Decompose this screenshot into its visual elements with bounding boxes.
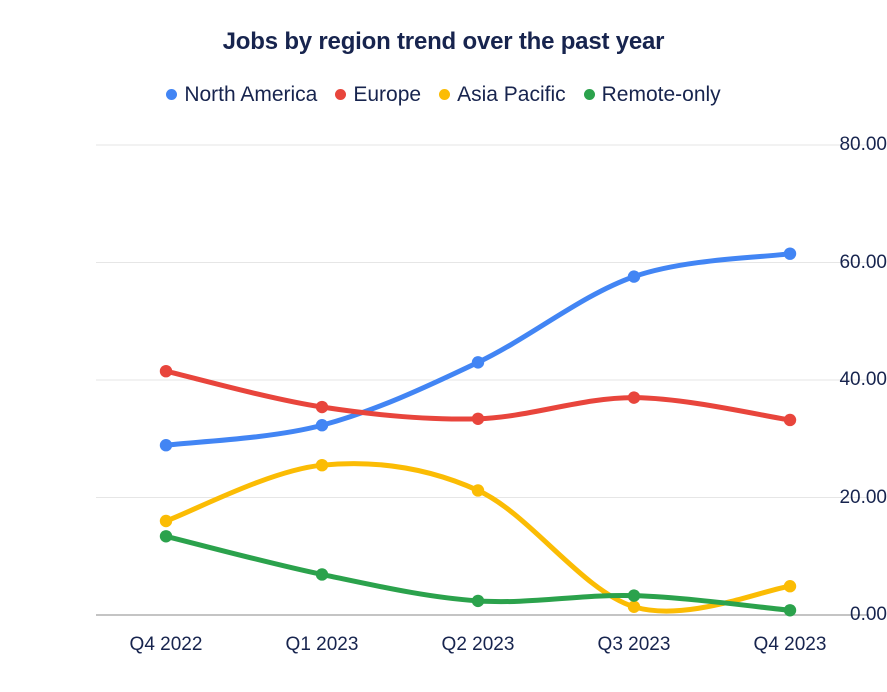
data-point-marker[interactable] [628,589,640,601]
data-point-marker[interactable] [472,413,484,425]
data-point-marker[interactable] [784,580,796,592]
y-axis-tick-label: 60.00 [801,252,887,274]
plot-area: 0.0020.0040.0060.0080.00Q4 2022Q1 2023Q2… [0,0,887,692]
data-point-marker[interactable] [784,604,796,616]
x-axis-tick-label: Q3 2023 [598,634,671,656]
x-axis-tick-label: Q2 2023 [442,634,515,656]
data-point-marker[interactable] [628,601,640,613]
data-point-marker[interactable] [316,568,328,580]
y-axis-tick-label: 0.00 [801,604,887,626]
data-point-marker[interactable] [160,365,172,377]
y-axis-tick-label: 40.00 [801,369,887,391]
x-axis-tick-label: Q4 2023 [754,634,827,656]
data-point-marker[interactable] [472,595,484,607]
data-point-marker[interactable] [160,530,172,542]
chart-container: Jobs by region trend over the past year … [0,0,887,692]
x-axis-tick-label: Q1 2023 [286,634,359,656]
data-point-marker[interactable] [316,401,328,413]
data-point-marker[interactable] [472,484,484,496]
plot-svg [0,0,887,692]
data-point-marker[interactable] [316,419,328,431]
data-point-marker[interactable] [316,459,328,471]
data-point-marker[interactable] [784,247,796,259]
data-point-marker[interactable] [160,515,172,527]
data-point-marker[interactable] [628,270,640,282]
data-point-marker[interactable] [472,356,484,368]
y-axis-tick-label: 80.00 [801,134,887,156]
data-point-marker[interactable] [628,391,640,403]
y-axis-tick-label: 20.00 [801,487,887,509]
data-point-marker[interactable] [160,439,172,451]
data-point-marker[interactable] [784,414,796,426]
x-axis-tick-label: Q4 2022 [130,634,203,656]
